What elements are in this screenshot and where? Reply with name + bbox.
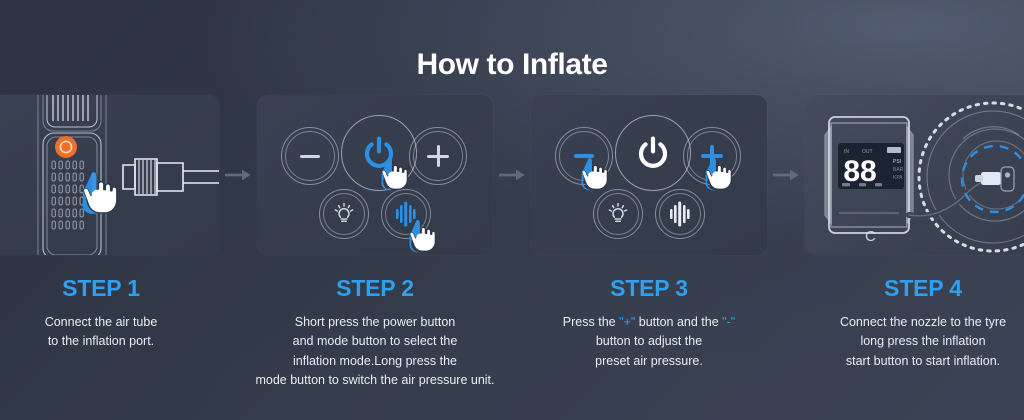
step-1-panel — [0, 95, 219, 255]
step-2-label: STEP 2 — [336, 277, 414, 300]
step-3-desc-line-2: button to adjust the — [524, 332, 774, 351]
power-button[interactable] — [615, 115, 691, 191]
mode-button[interactable] — [655, 189, 705, 239]
step-2-desc-line-3: inflation mode.Long press the — [250, 352, 500, 371]
step-3-desc-part-1: Press the — [563, 315, 619, 329]
step-2-desc-line-4: mode button to switch the air pressure u… — [250, 371, 500, 390]
tyre-nozzle-illustration: IN OUT 88 PSI BAR KPA — [805, 95, 1024, 255]
mode-waveform-icon — [669, 201, 691, 227]
tyre-valve-nozzle — [975, 167, 1014, 191]
minus-button[interactable] — [281, 127, 339, 185]
step-2-panel — [257, 95, 493, 255]
step-2-desc-line-2: and mode button to select the — [250, 332, 500, 351]
step-3-panel — [531, 95, 767, 255]
step-4-desc-line-1: Connect the nozzle to the tyre — [798, 313, 1024, 332]
step-4-description: Connect the nozzle to the tyre long pres… — [798, 313, 1024, 371]
mode-waveform-icon — [395, 201, 417, 227]
step-4-label: STEP 4 — [884, 277, 962, 300]
hand-cursor-icon — [77, 171, 119, 215]
steps-row: STEP 1 Connect the air tube to the infla… — [0, 95, 1024, 395]
power-icon — [638, 137, 668, 169]
step-4-panel: IN OUT 88 PSI BAR KPA — [805, 95, 1024, 255]
step-3-desc-part-2: button and the — [635, 315, 722, 329]
air-hose-connector — [121, 151, 219, 203]
light-button[interactable] — [319, 189, 369, 239]
inflation-port — [55, 136, 77, 158]
step-1-label: STEP 1 — [62, 277, 140, 300]
step-3-label: STEP 3 — [610, 277, 688, 300]
step-4: IN OUT 88 PSI BAR KPA — [805, 95, 1024, 371]
step-arrow-3 — [767, 95, 805, 255]
step-1-desc-line-2: to the inflation port. — [0, 332, 226, 351]
step-2-desc-line-1: Short press the power button — [250, 313, 500, 332]
lightbulb-icon — [332, 202, 356, 226]
step-arrow-2 — [493, 95, 531, 255]
lightbulb-icon — [606, 202, 630, 226]
hand-cursor-icon — [577, 157, 609, 191]
step-3-desc-minus: "-" — [722, 315, 735, 329]
page-title: How to Inflate — [0, 48, 1024, 82]
step-3-desc-plus: "+" — [619, 315, 635, 329]
step-3-description: Press the "+" button and the "-" button … — [524, 313, 774, 371]
power-icon — [364, 137, 394, 169]
minus-icon — [300, 155, 320, 158]
step-1-description: Connect the air tube to the inflation po… — [0, 313, 226, 352]
plus-button[interactable] — [409, 127, 467, 185]
light-button[interactable] — [593, 189, 643, 239]
svg-text:C: C — [865, 228, 876, 245]
svg-text:KPA: KPA — [893, 175, 903, 181]
how-to-inflate-infographic: How to Inflate — [0, 0, 1024, 420]
step-3: STEP 3 Press the "+" button and the "-" … — [531, 95, 767, 371]
step-4-desc-line-2: long press the inflation — [798, 332, 1024, 351]
button-pad — [257, 95, 493, 255]
step-3-desc-line-1: Press the "+" button and the "-" — [524, 313, 774, 332]
svg-text:PSI: PSI — [893, 159, 901, 165]
step-2: STEP 2 Short press the power button and … — [257, 95, 493, 391]
minus-icon — [574, 154, 594, 158]
lcd-display: IN OUT 88 PSI BAR KPA — [838, 143, 904, 189]
plus-icon — [700, 144, 724, 168]
step-arrow-1 — [219, 95, 257, 255]
button-pad — [531, 95, 767, 255]
step-1-desc-line-1: Connect the air tube — [0, 313, 226, 332]
step-1: STEP 1 Connect the air tube to the infla… — [0, 95, 219, 352]
step-3-desc-line-3: preset air pressure. — [524, 352, 774, 371]
svg-text:BAR: BAR — [893, 167, 904, 173]
step-4-desc-line-3: start button to start inflation. — [798, 352, 1024, 371]
plus-icon — [426, 144, 450, 168]
step-2-description: Short press the power button and mode bu… — [250, 313, 500, 391]
